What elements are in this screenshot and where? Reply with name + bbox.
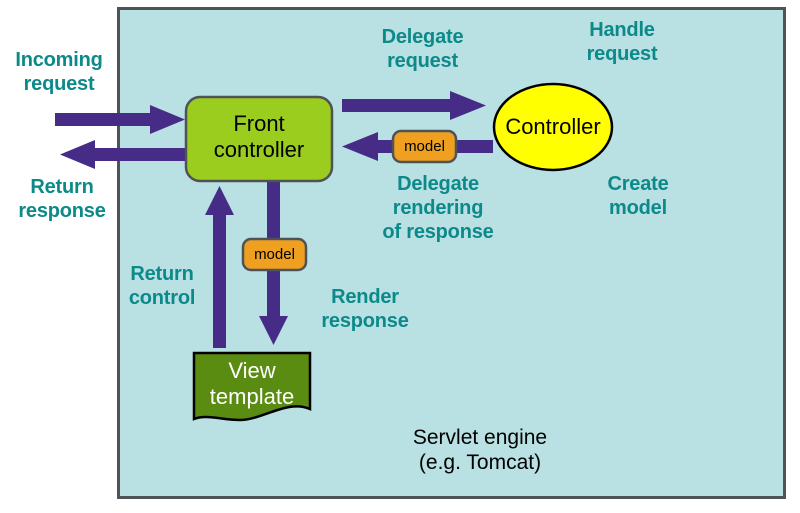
servlet-engine-caption-line1: Servlet engine (413, 426, 547, 449)
controller-label: Controller (493, 114, 613, 140)
incoming-request-line1: Incoming (15, 49, 102, 71)
front-controller-line2: controller (214, 137, 304, 162)
delegate-rendering-line1: Delegate (397, 173, 479, 195)
model-badge-controller-label: model (393, 138, 456, 155)
return-response-label: Returnresponse (0, 175, 124, 223)
servlet-engine-caption: Servlet engine(e.g. Tomcat) (340, 425, 620, 475)
view-template-label: Viewtemplate (194, 358, 310, 410)
return-response-line2: response (18, 200, 105, 222)
handle-request-line2: request (587, 43, 658, 65)
model-badge-controller-text: model (404, 138, 445, 155)
view-template-line2: template (210, 384, 294, 409)
return-control-line2: control (129, 287, 195, 309)
return-control-line1: Return (130, 263, 193, 285)
delegate-rendering-line2: rendering (393, 197, 483, 219)
incoming-request-label: Incomingrequest (0, 48, 118, 96)
delegate-request-line2: request (387, 50, 458, 72)
servlet-engine-caption-line2: (e.g. Tomcat) (419, 451, 541, 474)
controller-line1: Controller (505, 114, 600, 139)
delegate-rendering-line3: of response (382, 221, 493, 243)
delegate-rendering-label: Delegaterenderingof response (355, 172, 521, 244)
handle-request-label: Handlerequest (557, 18, 687, 66)
view-template-line1: View (228, 358, 275, 383)
delegate-request-label: Delegaterequest (355, 25, 490, 73)
render-response-label: Renderresponse (290, 285, 440, 333)
create-model-line1: Create (607, 173, 668, 195)
front-controller-line1: Front (233, 111, 284, 136)
model-badge-view-text: model (254, 246, 295, 263)
create-model-label: Createmodel (578, 172, 698, 220)
render-response-line1: Render (331, 286, 399, 308)
model-badge-view-label: model (243, 246, 306, 263)
create-model-line2: model (609, 197, 667, 219)
front-controller-label: Frontcontroller (186, 111, 332, 163)
delegate-request-line1: Delegate (382, 26, 464, 48)
handle-request-line1: Handle (589, 19, 654, 41)
return-response-line1: Return (30, 176, 93, 198)
render-response-line2: response (321, 310, 408, 332)
incoming-request-line2: request (24, 73, 95, 95)
return-control-label: Returncontrol (112, 262, 212, 310)
